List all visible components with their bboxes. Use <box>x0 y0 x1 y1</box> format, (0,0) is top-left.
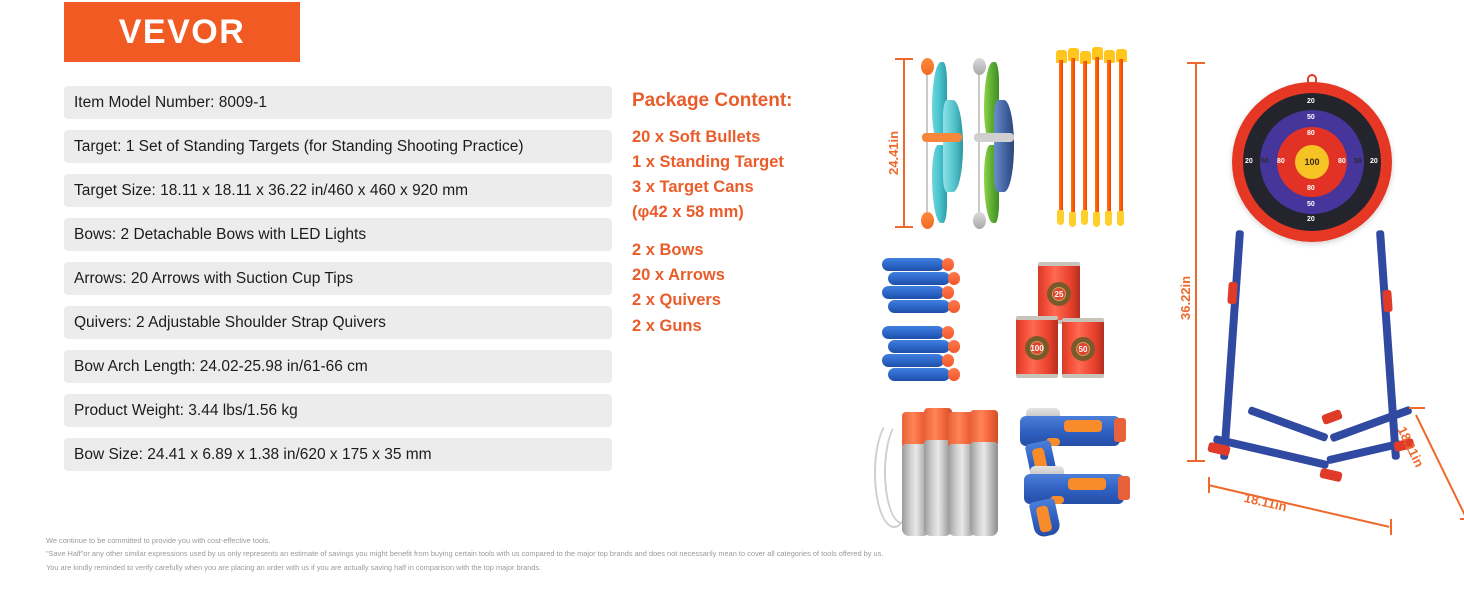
bow-dimension-label: 24.41in <box>886 131 901 175</box>
ring-value-outer-top: 20 <box>1307 98 1315 105</box>
package-group-primary: 20 x Soft Bullets 1 x Standing Target 3 … <box>632 125 847 225</box>
spec-text: Bow Arch Length: 24.02-25.98 in/61-66 cm <box>74 358 368 376</box>
ring-value-third-right: 80 <box>1338 158 1346 165</box>
can-value: 50 <box>1076 342 1091 357</box>
package-content-title: Package Content: <box>632 90 847 112</box>
spec-row: Bows: 2 Detachable Bows with LED Lights <box>64 218 612 251</box>
spec-row: Arrows: 20 Arrows with Suction Cup Tips <box>64 262 612 295</box>
ring-value-third-bottom: 80 <box>1307 185 1315 192</box>
spec-text: Bows: 2 Detachable Bows with LED Lights <box>74 226 366 244</box>
can-value: 25 <box>1052 287 1067 302</box>
ring-value-outer-right: 20 <box>1370 158 1378 165</box>
spec-text: Bow Size: 24.41 x 6.89 x 1.38 in/620 x 1… <box>74 446 432 464</box>
product-photo-area: 24.41in <box>860 0 1464 600</box>
spec-row: Quivers: 2 Adjustable Shoulder Strap Qui… <box>64 306 612 339</box>
spec-row: Item Model Number: 8009-1 <box>64 86 612 119</box>
package-item: 20 x Arrows <box>632 263 847 288</box>
spec-text: Arrows: 20 Arrows with Suction Cup Tips <box>74 270 353 288</box>
package-content-block: Package Content: 20 x Soft Bullets 1 x S… <box>632 90 847 339</box>
spec-row: Target: 1 Set of Standing Targets (for S… <box>64 130 612 163</box>
spec-text: Quivers: 2 Adjustable Shoulder Strap Qui… <box>74 314 386 332</box>
ring-value-outer-bottom: 20 <box>1307 216 1315 223</box>
ring-value-second-top: 50 <box>1307 114 1315 121</box>
base-width-label: 18.11in <box>1243 490 1289 514</box>
spec-row: Bow Size: 24.41 x 6.89 x 1.38 in/620 x 1… <box>64 438 612 471</box>
disclaimer-line: You are kindly reminded to verify carefu… <box>46 561 1166 574</box>
disclaimer-line: We continue to be committed to provide y… <box>46 534 1166 547</box>
spec-text: Item Model Number: 8009-1 <box>74 94 267 112</box>
package-item: 2 x Bows <box>632 238 847 263</box>
spec-row: Product Weight: 3.44 lbs/1.56 kg <box>64 394 612 427</box>
target-hook-icon <box>1307 74 1317 83</box>
package-item: 3 x Target Cans <box>632 175 847 200</box>
vevor-logo: VEVOR <box>64 2 300 62</box>
target-can: 100 <box>1016 316 1058 378</box>
package-group-secondary: 2 x Bows 20 x Arrows 2 x Quivers 2 x Gun… <box>632 238 847 338</box>
can-value: 100 <box>1030 341 1045 356</box>
spec-row: Target Size: 18.11 x 18.11 x 36.22 in/46… <box>64 174 612 207</box>
package-item: 2 x Guns <box>632 314 847 339</box>
ring-value-third-left: 80 <box>1277 158 1285 165</box>
package-item: 1 x Standing Target <box>632 150 847 175</box>
brand-name: VEVOR <box>119 13 246 52</box>
spec-row: Bow Arch Length: 24.02-25.98 in/61-66 cm <box>64 350 612 383</box>
target-can: 50 <box>1062 318 1104 378</box>
disclaimer-line: "Save Half"or any other similar expressi… <box>46 547 1166 560</box>
target-center-value: 100 <box>1304 157 1319 167</box>
specification-list: Item Model Number: 8009-1 Target: 1 Set … <box>64 86 612 482</box>
ring-value-second-bottom: 50 <box>1307 201 1315 208</box>
ring-value-second-left: 50 <box>1261 158 1269 165</box>
stand-height-label: 36.22in <box>1178 276 1193 320</box>
package-item: 2 x Quivers <box>632 288 847 313</box>
package-item: (φ42 x 58 mm) <box>632 200 847 225</box>
spec-text: Target: 1 Set of Standing Targets (for S… <box>74 138 523 156</box>
ring-value-outer-left: 20 <box>1245 158 1253 165</box>
ring-value-second-right: 50 <box>1354 158 1362 165</box>
spec-text: Target Size: 18.11 x 18.11 x 36.22 in/46… <box>74 182 468 200</box>
disclaimer-block: We continue to be committed to provide y… <box>46 534 1166 574</box>
ring-value-third-top: 80 <box>1307 130 1315 137</box>
product-spec-page: VEVOR Item Model Number: 8009-1 Target: … <box>0 0 1464 600</box>
target-can: 25 <box>1038 262 1080 324</box>
package-item: 20 x Soft Bullets <box>632 125 847 150</box>
spec-text: Product Weight: 3.44 lbs/1.56 kg <box>74 402 298 420</box>
